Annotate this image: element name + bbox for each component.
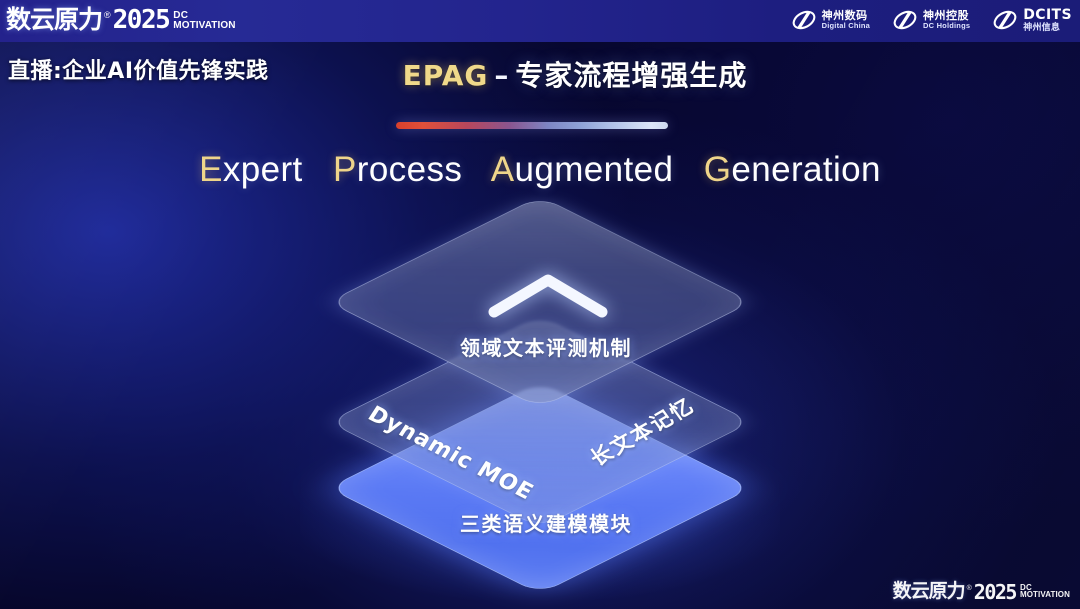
acronym-space-1 xyxy=(313,150,323,189)
brand-dc-line2: MOTIVATION xyxy=(173,21,235,31)
brand-logo-year: 2025 xyxy=(113,7,170,33)
brand-registered-mark: ® xyxy=(104,10,111,20)
presentation-slide: 数云原力 ® 2025 DC MOTIVATION 神州数码 Digital C… xyxy=(0,0,1080,609)
slide-title-acronym: EPAG xyxy=(403,59,489,92)
partner-label-dc-holdings: 神州控股 DC Holdings xyxy=(923,10,970,29)
acronym-word-expert: Expert xyxy=(199,150,303,189)
partner-label-dcits: DCITS 神州信息 xyxy=(1023,8,1072,32)
acronym-cap-a: A xyxy=(491,150,515,189)
gradient-accent-bar xyxy=(396,122,668,129)
acronym-space-3 xyxy=(683,150,693,189)
partner-logo-dc-holdings: 神州控股 DC Holdings xyxy=(892,7,970,33)
acronym-rest-generation: eneration xyxy=(731,150,881,189)
brand-logo-chinese: 数云原力 xyxy=(6,7,102,32)
partner-name-cn: DCITS xyxy=(1023,8,1072,23)
slide-title-dash: – xyxy=(488,59,515,92)
chevron-up-icon xyxy=(488,272,608,318)
partner-logo-dcits: DCITS 神州信息 xyxy=(992,7,1072,33)
acronym-cap-e: E xyxy=(199,150,223,189)
acronym-word-generation: Generation xyxy=(704,150,881,189)
partner-logo-digital-china: 神州数码 Digital China xyxy=(791,7,870,33)
watermark-dc-motivation: DC MOTIVATION xyxy=(1020,584,1070,599)
acronym-expansion: Expert Process Augmented Generation xyxy=(0,150,1080,190)
acronym-rest-process: rocess xyxy=(357,150,463,189)
swoosh-icon xyxy=(992,7,1018,33)
partner-name-en: Digital China xyxy=(822,22,870,30)
acronym-word-process: Process xyxy=(333,150,462,189)
watermark-dc-line2: MOTIVATION xyxy=(1020,591,1070,599)
diagram-label-top: 领域文本评测机制 xyxy=(0,332,1080,361)
partner-name-en: DC Holdings xyxy=(923,22,970,30)
partner-name-en: 神州信息 xyxy=(1023,23,1072,32)
watermark-year: 2025 xyxy=(974,582,1016,602)
watermark-chinese: 数云原力 xyxy=(893,582,965,601)
brand-logo-dc-motivation: DC MOTIVATION xyxy=(173,11,235,30)
corner-watermark-logo: 数云原力 ® 2025 DC MOTIVATION xyxy=(893,581,1070,601)
acronym-space-2 xyxy=(472,150,482,189)
swoosh-icon xyxy=(892,7,918,33)
acronym-cap-p: P xyxy=(333,150,357,189)
acronym-word-augmented: Augmented xyxy=(491,150,674,189)
brand-logo: 数云原力 ® 2025 DC MOTIVATION xyxy=(6,6,236,32)
slide-title: EPAG–专家流程增强生成 xyxy=(0,54,1080,94)
swoosh-icon xyxy=(791,7,817,33)
diagram-label-bottom: 三类语义建模模块 xyxy=(0,508,1080,537)
acronym-rest-expert: xpert xyxy=(223,150,303,189)
watermark-registered-mark: ® xyxy=(967,585,972,592)
partner-label-digital-china: 神州数码 Digital China xyxy=(822,10,870,29)
partner-logo-group: 神州数码 Digital China 神州控股 DC Holdings xyxy=(791,7,1072,33)
slide-title-chinese: 专家流程增强生成 xyxy=(515,59,747,92)
acronym-rest-augmented: ugmented xyxy=(514,150,673,189)
acronym-cap-g: G xyxy=(704,150,732,189)
